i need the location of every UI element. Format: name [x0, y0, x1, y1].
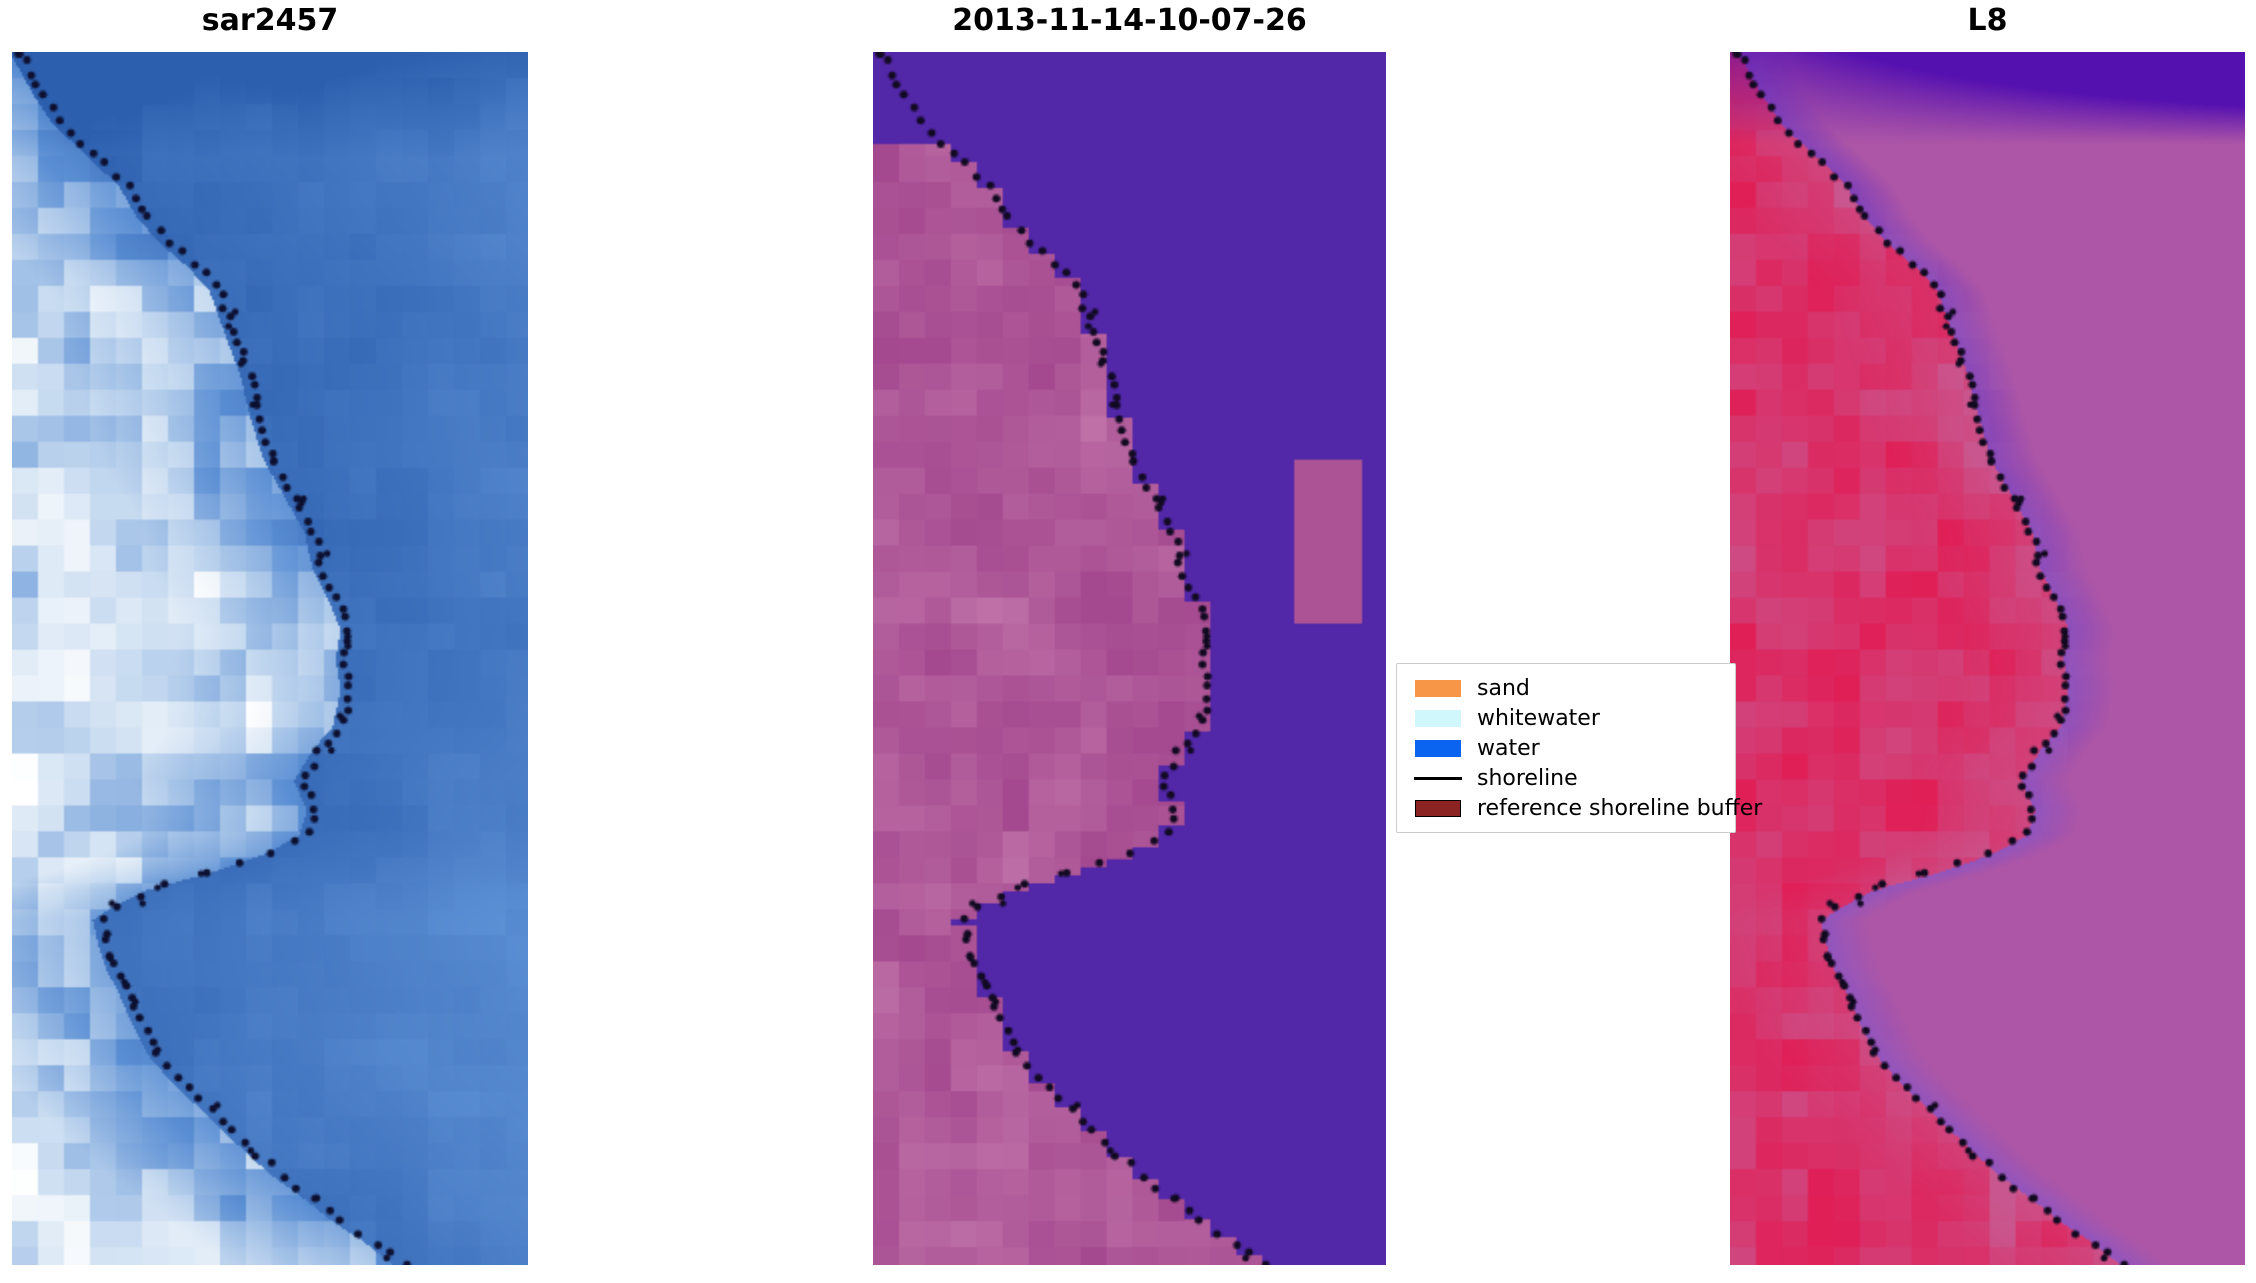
legend-label-reference-shoreline-buffer: reference shoreline buffer	[1469, 796, 1762, 821]
legend-item-reference-shoreline-buffer: reference shoreline buffer	[1407, 793, 1725, 823]
whitewater-swatch-icon	[1415, 710, 1461, 727]
panel-image-classified[interactable]	[873, 52, 1386, 1265]
panel-image-sar[interactable]	[12, 52, 528, 1265]
classified-image-canvas	[873, 52, 1386, 1265]
legend-swatch-wrap	[1407, 680, 1469, 697]
figure-canvas: sar2457 2013-11-14-10-07-26 L8 sand whit…	[0, 0, 2256, 1283]
l8-image-canvas	[1730, 52, 2245, 1265]
legend-item-sand: sand	[1407, 673, 1725, 703]
sar-image-canvas	[12, 52, 528, 1265]
panel-title-sar: sar2457	[12, 4, 528, 38]
panel-title-l8: L8	[1730, 4, 2245, 38]
legend-label-sand: sand	[1469, 676, 1530, 701]
legend-label-water: water	[1469, 736, 1540, 761]
legend-item-water: water	[1407, 733, 1725, 763]
panel-image-l8[interactable]	[1730, 52, 2245, 1265]
legend-swatch-wrap	[1407, 777, 1469, 780]
legend: sand whitewater water shoreline referenc…	[1396, 663, 1736, 833]
legend-item-whitewater: whitewater	[1407, 703, 1725, 733]
reference-buffer-swatch-icon	[1415, 800, 1461, 817]
legend-label-whitewater: whitewater	[1469, 706, 1600, 731]
water-swatch-icon	[1415, 740, 1461, 757]
legend-swatch-wrap	[1407, 740, 1469, 757]
shoreline-line-icon	[1414, 777, 1462, 780]
legend-swatch-wrap	[1407, 800, 1469, 817]
sand-swatch-icon	[1415, 680, 1461, 697]
legend-swatch-wrap	[1407, 710, 1469, 727]
legend-item-shoreline: shoreline	[1407, 763, 1725, 793]
panel-title-classified: 2013-11-14-10-07-26	[873, 4, 1386, 38]
legend-label-shoreline: shoreline	[1469, 766, 1578, 791]
